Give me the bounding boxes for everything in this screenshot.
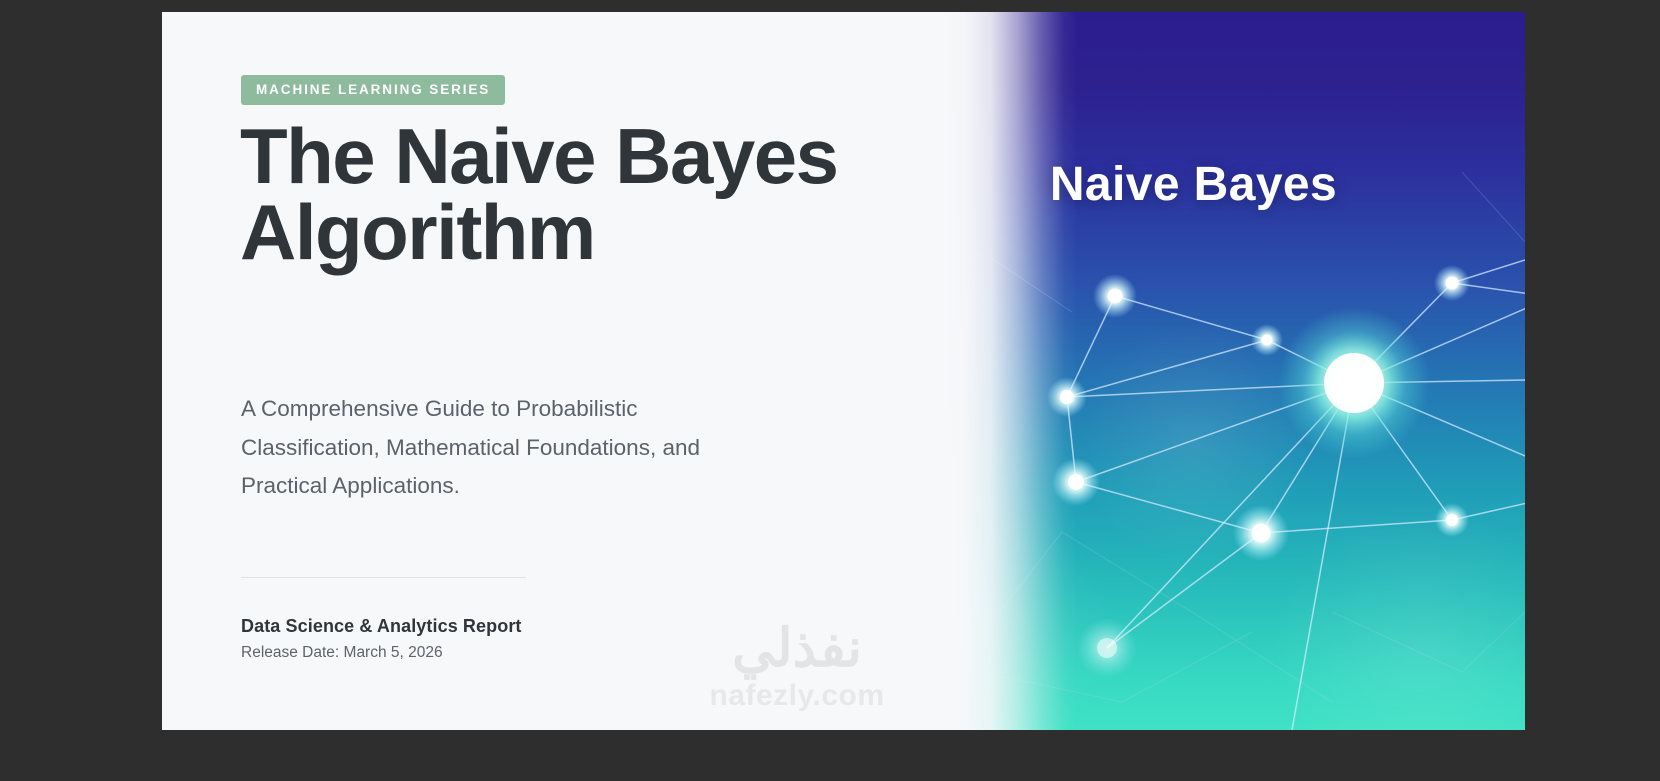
- neural-network-artwork-panel: Naive Bayes: [862, 12, 1525, 730]
- artwork-title: Naive Bayes: [862, 157, 1525, 212]
- page-subtitle: A Comprehensive Guide to Probabilistic C…: [241, 390, 751, 506]
- report-type-label: Data Science & Analytics Report: [241, 616, 522, 637]
- neural-network-nodes-graphic: [862, 12, 1525, 730]
- presentation-slide: Naive Bayes MACHINE LEARNING SERIES The …: [162, 12, 1525, 730]
- page-title: The Naive Bayes Algorithm: [240, 118, 840, 271]
- left-content-panel: MACHINE LEARNING SERIES The Naive Bayes …: [162, 12, 897, 730]
- series-badge: MACHINE LEARNING SERIES: [241, 75, 505, 105]
- divider: [241, 577, 526, 578]
- release-date-label: Release Date: March 5, 2026: [241, 644, 443, 662]
